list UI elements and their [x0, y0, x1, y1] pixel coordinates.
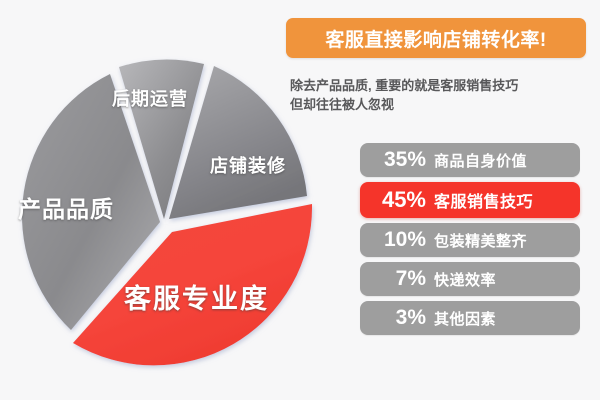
legend-item-delivery-speed[interactable]: 7% 快递效率 [360, 262, 580, 296]
legend-label: 客服销售技巧 [434, 188, 533, 212]
legend-label: 其他因素 [434, 308, 496, 329]
legend-list: 35% 商品自身价值 45% 客服销售技巧 10% 包装精美整齐 7% 快递效率… [360, 143, 580, 340]
subtitle-line-2: 但却往往被人忽视 [290, 95, 590, 114]
legend-item-other-factors[interactable]: 3% 其他因素 [360, 301, 580, 335]
legend-label: 包装精美整齐 [434, 230, 527, 251]
subtitle-block: 除去产品品质, 重要的就是客服销售技巧 但却往往被人忽视 [290, 76, 590, 114]
legend-percent: 10% [360, 228, 434, 252]
info-panel: 客服直接影响店铺转化率! 除去产品品质, 重要的就是客服销售技巧 但却往往被人忽… [278, 0, 600, 400]
subtitle-line-1: 除去产品品质, 重要的就是客服销售技巧 [290, 76, 590, 95]
legend-label: 快递效率 [434, 269, 496, 290]
legend-label: 商品自身价值 [434, 150, 527, 171]
legend-percent: 7% [360, 267, 434, 291]
legend-item-product-value[interactable]: 35% 商品自身价值 [360, 143, 580, 177]
headline-banner: 客服直接影响店铺转化率! [286, 18, 586, 58]
legend-item-service-skill[interactable]: 45% 客服销售技巧 [360, 182, 580, 218]
legend-percent: 35% [360, 148, 434, 172]
headline-text: 客服直接影响店铺转化率! [325, 25, 546, 52]
legend-item-packaging[interactable]: 10% 包装精美整齐 [360, 223, 580, 257]
legend-percent: 3% [360, 306, 434, 330]
legend-percent: 45% [360, 187, 434, 213]
